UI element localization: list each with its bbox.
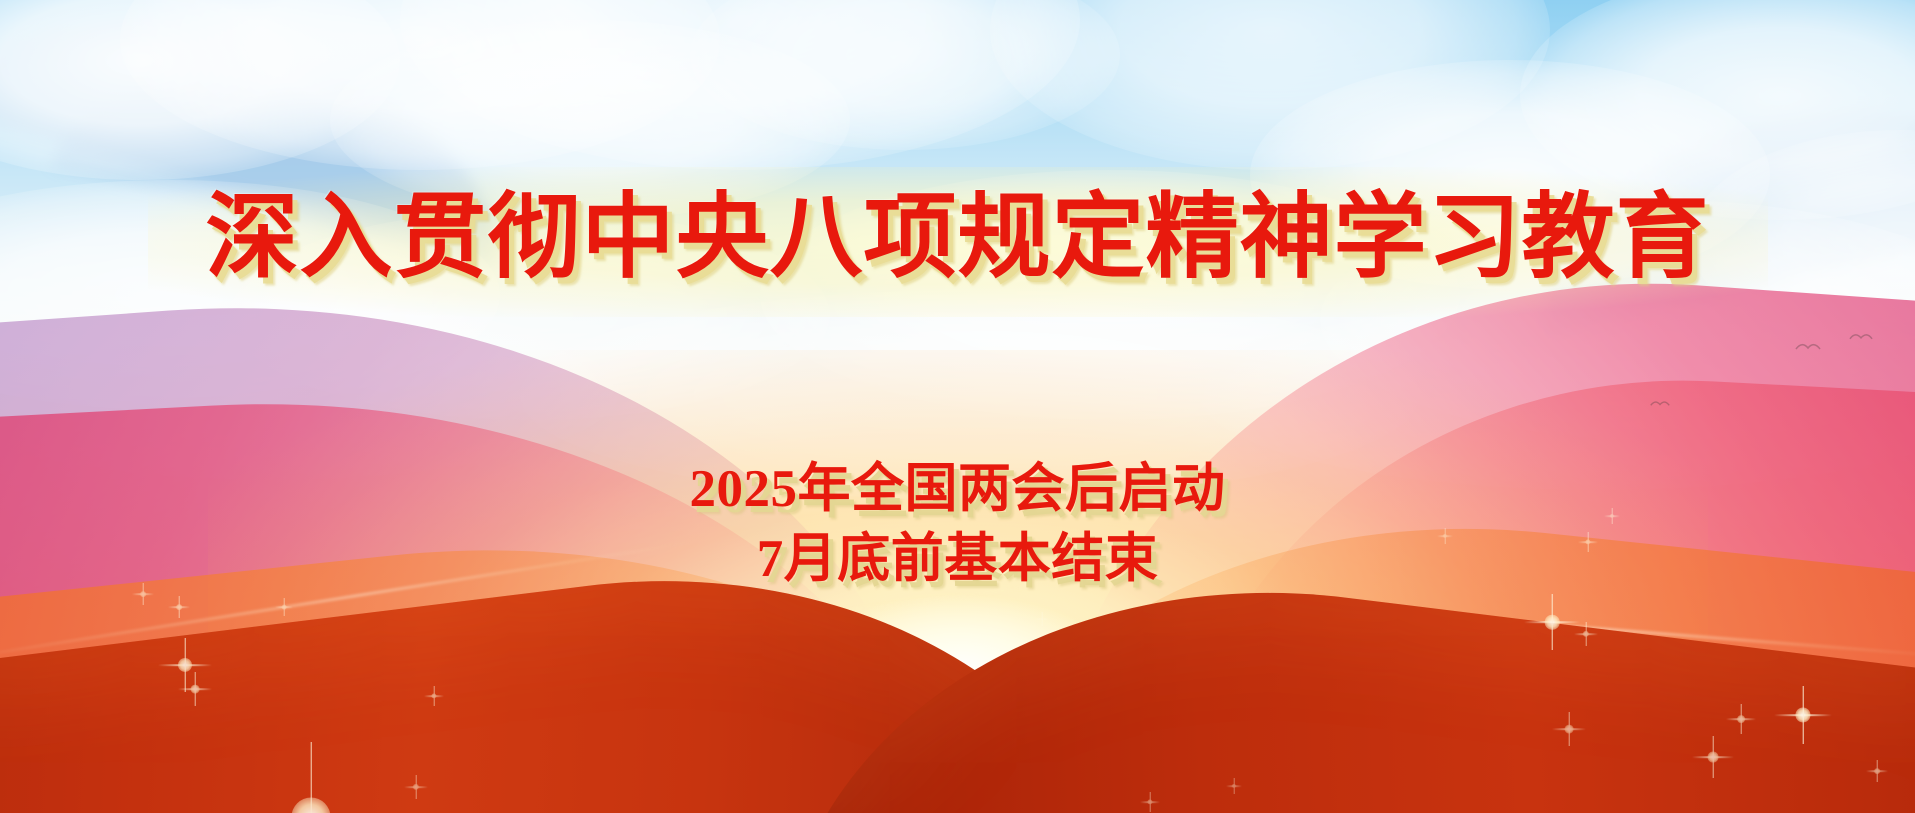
headline-container: 深入贯彻中央八项规定精神学习教育 bbox=[0, 192, 1915, 285]
propaganda-banner: 深入贯彻中央八项规定精神学习教育 2025年全国两会后启动 7月底前基本结束 bbox=[0, 0, 1915, 813]
subtitle-container: 2025年全国两会后启动 7月底前基本结束 bbox=[0, 455, 1915, 595]
text-layer: 深入贯彻中央八项规定精神学习教育 2025年全国两会后启动 7月底前基本结束 bbox=[0, 0, 1915, 813]
subtitle-line-2: 7月底前基本结束 bbox=[0, 525, 1915, 595]
subtitle-line-1: 2025年全国两会后启动 bbox=[0, 455, 1915, 525]
banner-headline: 深入贯彻中央八项规定精神学习教育 bbox=[206, 192, 1710, 285]
